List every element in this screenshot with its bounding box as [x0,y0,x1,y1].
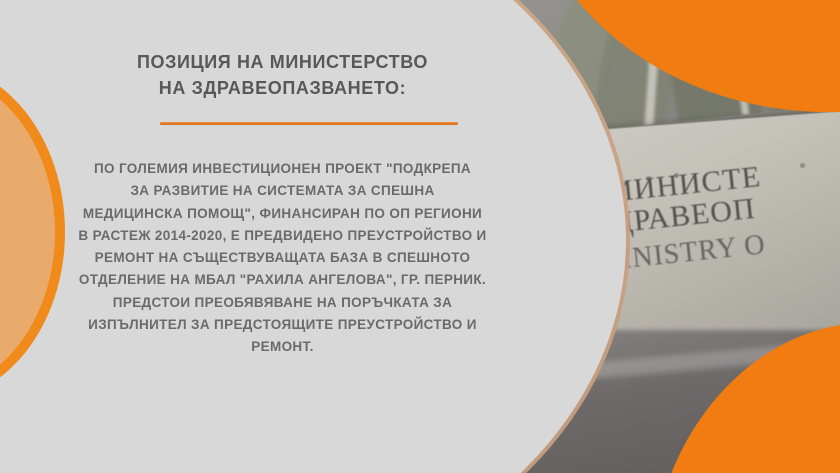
title-divider [160,122,458,125]
slide-canvas: МИНИСТЕ ЗДРАВЕОП MINISTRY O ПОЗИЦИЯ НА М… [0,0,840,473]
slide-content: ПОЗИЦИЯ НА МИНИСТЕРСТВО НА ЗДРАВЕОПАЗВАН… [0,0,565,473]
plaque-screw-icon [800,163,805,168]
body-paragraph: ПО ГОЛЕМИЯ ИНВЕСТИЦИОНЕН ПРОЕКТ "ПОДКРЕП… [0,158,565,359]
page-title: ПОЗИЦИЯ НА МИНИСТЕРСТВО НА ЗДРАВЕОПАЗВАН… [0,49,565,101]
